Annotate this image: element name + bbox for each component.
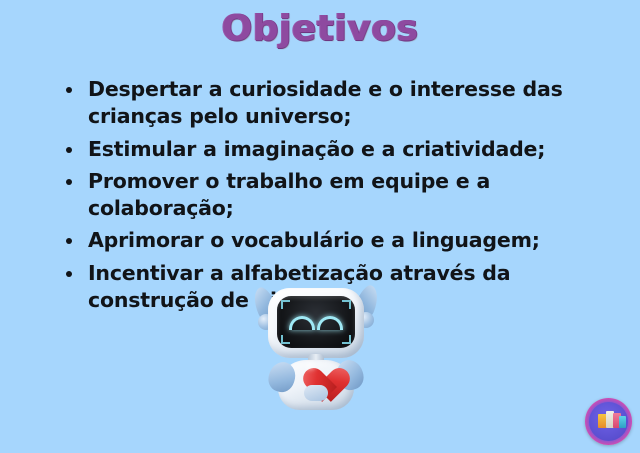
- robot-eye-left-icon: [289, 316, 315, 330]
- list-item-label: Estimular a imaginação e a criatividade;: [88, 137, 545, 161]
- list-item-label: Aprimorar o vocabulário e a linguagem;: [88, 228, 540, 252]
- brand-logo-inner: [589, 402, 628, 441]
- bullet-dot-icon: [66, 87, 72, 93]
- slide-canvas: Objetivos Despertar a curiosidade e o in…: [0, 0, 640, 453]
- bullet-dot-icon: [66, 271, 72, 277]
- list-item: Estimular a imaginação e a criatividade;: [62, 136, 602, 163]
- robot-eye-right-icon: [317, 316, 343, 330]
- bullet-dot-icon: [66, 147, 72, 153]
- screen-corner-icon: [342, 300, 351, 309]
- screen-corner-icon: [342, 335, 351, 344]
- screen-corner-icon: [281, 335, 290, 344]
- robot-hands: [304, 385, 328, 401]
- list-item-label: Despertar a curiosidade e o interesse da…: [88, 77, 563, 128]
- robot-head: [268, 288, 364, 358]
- robot-mascot-illustration: [252, 282, 380, 412]
- bullet-dot-icon: [66, 238, 72, 244]
- page-title: Objetivos: [0, 8, 640, 49]
- brand-logo-badge[interactable]: [585, 398, 632, 445]
- heart-highlight: [305, 362, 316, 370]
- bullet-dot-icon: [66, 179, 72, 185]
- screen-corner-icon: [281, 300, 290, 309]
- list-item: Aprimorar o vocabulário e a linguagem;: [62, 227, 602, 254]
- robot-face-screen: [277, 296, 355, 348]
- list-item-label: Promover o trabalho em equipe e a colabo…: [88, 169, 490, 220]
- list-item: Despertar a curiosidade e o interesse da…: [62, 76, 602, 131]
- logo-card-icon: [619, 416, 626, 428]
- list-item: Promover o trabalho em equipe e a colabo…: [62, 168, 602, 223]
